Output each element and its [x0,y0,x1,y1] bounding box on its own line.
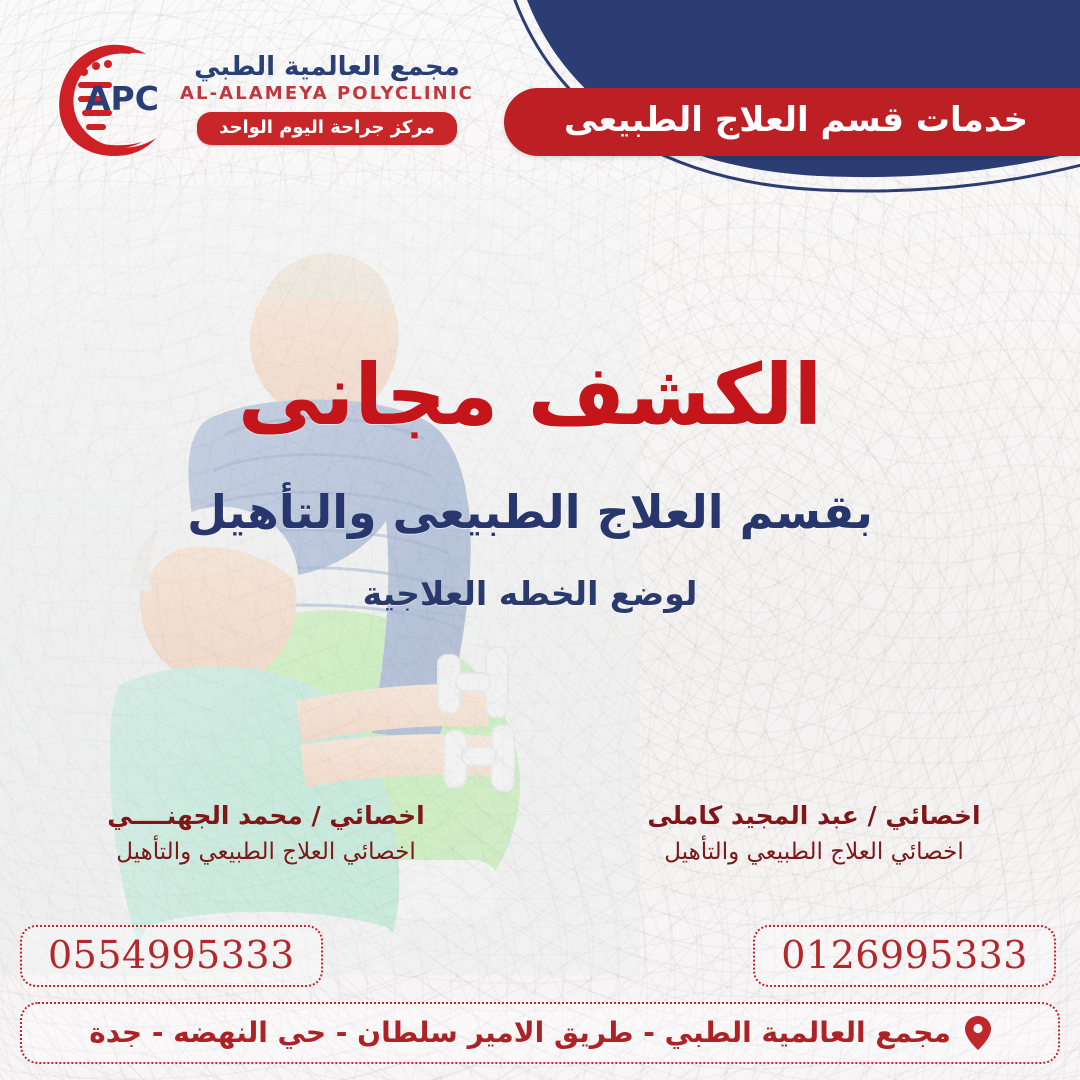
doctor-name: اخصائي / عبد المجيد كاملى [594,800,1034,831]
logo-initials: APC [85,79,159,118]
brand-tagline-pill: مركز جراحة اليوم الواحد [197,112,457,145]
address-bar[interactable]: مجمع العالمية الطبي - طريق الامير سلطان … [20,1002,1060,1064]
brand-name-arabic: مجمع العالمية الطبي [194,53,460,83]
brand-logo-block[interactable]: APC مجمع العالمية الطبي AL-ALAMEYA POLYC… [48,38,474,160]
phone-number-landline[interactable]: 0126995333 [781,936,1028,974]
doctor-name: اخصائي / محمد الجهنــــي [46,800,486,831]
apc-crescent-logo-icon: APC [48,38,166,160]
doctors-row: اخصائي / عبد المجيد كاملى اخصائي العلاج … [0,800,1080,867]
phone-pill-left[interactable]: 0554995333 [20,925,323,987]
doctor-card-right: اخصائي / محمد الجهنــــي اخصائي العلاج ا… [46,800,486,867]
phone-pill-right[interactable]: 0126995333 [753,925,1056,987]
headline-block: الكشف مجانى بقسم العلاج الطبيعى والتأهيل… [0,352,1080,612]
phone-number-mobile[interactable]: 0554995333 [48,936,295,974]
doctor-role: اخصائي العلاج الطبيعي والتأهيل [46,838,486,867]
headline-note: لوضع الخطه العلاجية [20,576,1040,612]
doctor-role: اخصائي العلاج الطبيعي والتأهيل [594,838,1034,867]
brand-name-english: AL-ALAMEYA POLYCLINIC [180,84,474,104]
address-text: مجمع العالمية الطبي - طريق الامير سلطان … [89,1019,951,1047]
headline-subtitle: بقسم العلاج الطبيعى والتأهيل [20,487,1040,538]
location-pin-icon [965,1016,991,1050]
brand-text-block: مجمع العالمية الطبي AL-ALAMEYA POLYCLINI… [180,53,474,145]
poster-canvas: APC مجمع العالمية الطبي AL-ALAMEYA POLYC… [0,0,1080,1080]
doctor-card-left: اخصائي / عبد المجيد كاملى اخصائي العلاج … [594,800,1034,867]
headline-main: الكشف مجانى [20,352,1040,439]
service-banner: خدمات قسم العلاج الطبيعى [504,88,1080,156]
